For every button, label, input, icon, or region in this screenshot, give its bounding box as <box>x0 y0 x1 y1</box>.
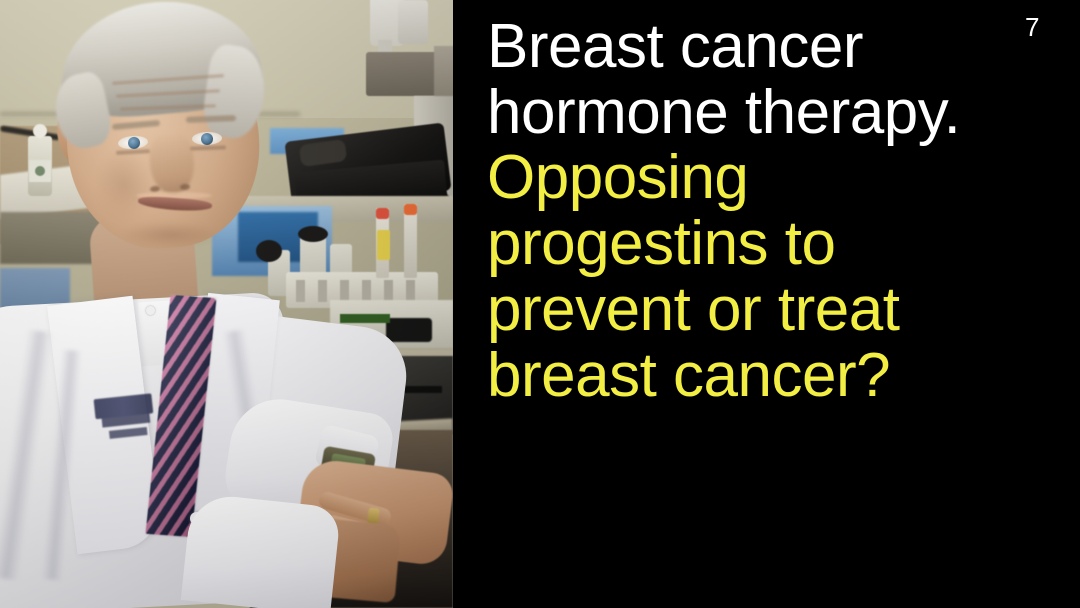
presentation-slide: 7 Breast cancer hormone therapy. Opposin… <box>0 0 1080 608</box>
slide-text-panel: 7 Breast cancer hormone therapy. Opposin… <box>453 0 1080 608</box>
chin-shadow <box>120 222 220 248</box>
bench-bottle-1-cap <box>298 226 328 242</box>
test-tube-2 <box>404 204 417 278</box>
bench-instrument-display <box>340 314 390 323</box>
researcher-laboratory-photo <box>0 0 453 608</box>
bench-bottle-3-cap <box>256 240 282 262</box>
lab-coat-embroidered-logo <box>93 389 161 453</box>
reagent-bottle-label <box>29 160 51 182</box>
reagent-bottle-cap <box>33 124 47 138</box>
subtitle-line-4: breast cancer? <box>487 343 1062 409</box>
test-tube-1-contents <box>377 230 390 260</box>
microscope-arm-secondary <box>398 0 428 44</box>
title-line-1: Breast cancer <box>487 14 1062 80</box>
slide-text-block: Breast cancer hormone therapy. Opposing … <box>487 10 1062 408</box>
cheek-shadow <box>96 150 152 220</box>
collar-button <box>146 306 155 315</box>
subtitle-line-3: prevent or treat <box>487 277 1062 343</box>
subtitle-line-2: progestins to <box>487 211 1062 277</box>
subtitle-line-1: Opposing <box>487 145 1062 211</box>
microscope-head-highlight <box>434 46 453 100</box>
lab-coat-sleeve-lower <box>181 492 341 608</box>
title-line-2: hormone therapy. <box>487 80 1062 146</box>
